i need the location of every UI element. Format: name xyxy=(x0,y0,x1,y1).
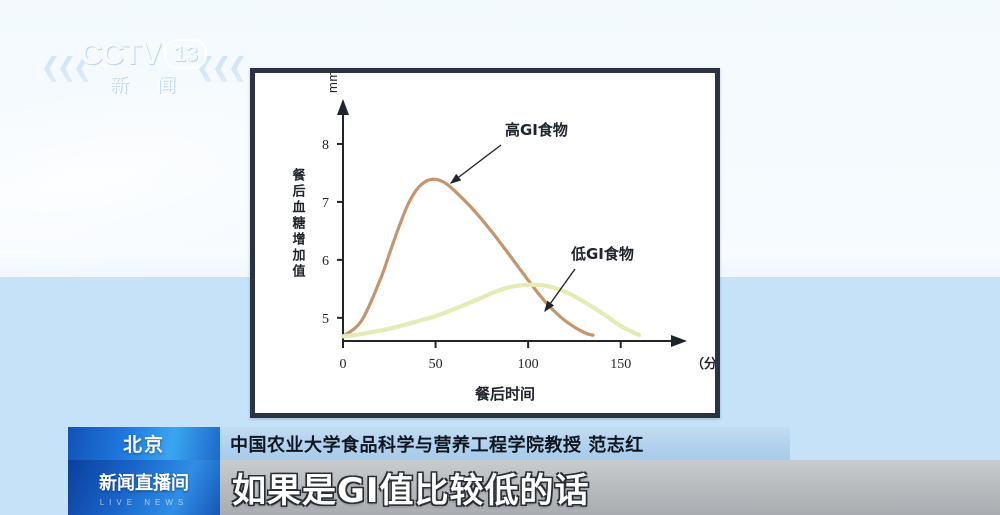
channel-logo-number: 13 xyxy=(164,39,206,69)
svg-text:0: 0 xyxy=(340,357,347,372)
channel-logo-main: CCTV 13 xyxy=(80,36,207,72)
guest-title-strip: 中国农业大学食品科学与营养工程学院教授 范志红 xyxy=(220,427,790,460)
svg-text:增: 增 xyxy=(292,232,305,248)
svg-text:8: 8 xyxy=(322,138,329,153)
svg-text:餐: 餐 xyxy=(291,168,306,184)
program-tag: 新闻直播间 LIVE NEWS xyxy=(68,460,220,515)
svg-text:7: 7 xyxy=(322,196,329,211)
svg-text:5: 5 xyxy=(322,312,329,327)
banner-title-row: 北京 中国农业大学食品科学与营养工程学院教授 范志红 xyxy=(0,427,1000,460)
chart-frame: 5678050100150（分钟）餐后时间mmol/l餐后血糖增加值 高GI食物… xyxy=(250,68,720,418)
series-annotation: 低GI食物 xyxy=(570,245,634,263)
subtitle-strip: 如果是GI值比较低的话 xyxy=(220,460,1000,515)
lower-third-banner: 北京 中国农业大学食品科学与营养工程学院教授 范志红 新闻直播间 LIVE NE… xyxy=(0,427,1000,515)
svg-text:100: 100 xyxy=(518,357,539,372)
program-name-label: 新闻直播间 xyxy=(99,469,189,495)
guest-title-label: 中国农业大学食品科学与营养工程学院教授 范志红 xyxy=(220,431,644,457)
svg-text:餐后时间: 餐后时间 xyxy=(475,385,535,403)
chart-plot-area: 5678050100150（分钟）餐后时间mmol/l餐后血糖增加值 高GI食物… xyxy=(255,73,715,413)
svg-text:150: 150 xyxy=(610,357,631,372)
svg-text:血: 血 xyxy=(292,200,305,216)
channel-logo-text: CCTV xyxy=(80,36,160,72)
channel-logo-subtitle: 新 闻 xyxy=(110,70,187,97)
program-name-en-label: LIVE NEWS xyxy=(100,498,189,507)
series-annotation: 高GI食物 xyxy=(505,121,568,139)
svg-text:糖: 糖 xyxy=(292,216,305,232)
svg-text:值: 值 xyxy=(292,264,305,280)
location-tag-label: 北京 xyxy=(123,430,165,457)
channel-logo: CCTV 13 新 闻 xyxy=(44,30,274,102)
subtitle-text: 如果是GI值比较低的话 xyxy=(220,463,590,512)
svg-text:（分钟）: （分钟） xyxy=(691,356,715,372)
svg-text:6: 6 xyxy=(322,254,329,269)
svg-text:mmol/l: mmol/l xyxy=(325,73,340,93)
svg-text:50: 50 xyxy=(429,357,443,372)
svg-text:后: 后 xyxy=(292,184,305,200)
blood-glucose-chart: 5678050100150（分钟）餐后时间mmol/l餐后血糖增加值 高GI食物… xyxy=(255,73,715,413)
banner-subtitle-row: 新闻直播间 LIVE NEWS 如果是GI值比较低的话 xyxy=(0,460,1000,515)
svg-text:加: 加 xyxy=(291,249,305,264)
location-tag: 北京 xyxy=(68,427,220,460)
